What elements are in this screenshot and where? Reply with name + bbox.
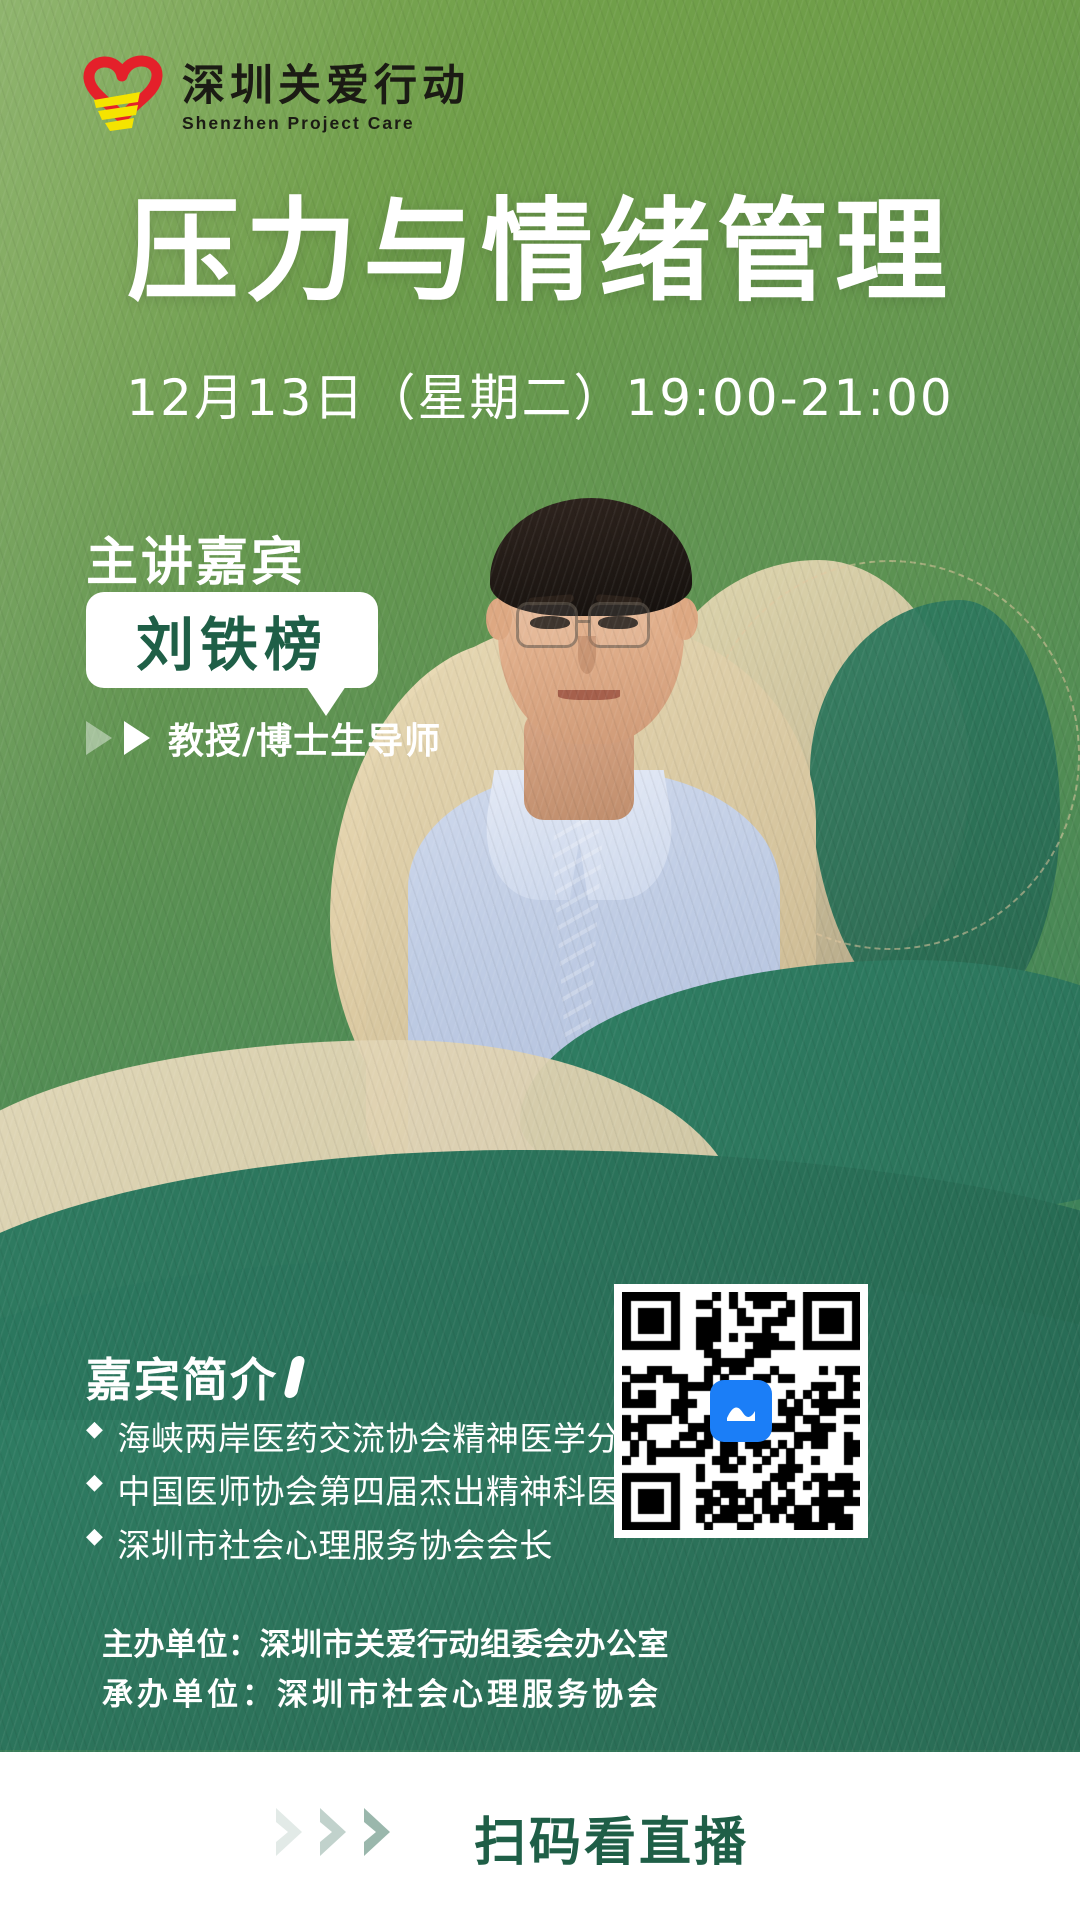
diamond-bullet-icon: ◆ — [86, 1465, 103, 1501]
brand-name-cn: 深圳关爱行动 — [182, 65, 470, 109]
portrait-glasses-right — [588, 602, 650, 648]
diamond-bullet-icon: ◆ — [86, 1519, 103, 1555]
event-datetime: 12月13日（星期二）19:00-21:00 — [0, 358, 1080, 430]
organizer-co-host: 承办单位：深圳市社会心理服务协会 — [102, 1670, 669, 1720]
bio-heading-row: 嘉宾简介 — [86, 1344, 301, 1410]
play-triangle-icon-secondary — [86, 721, 112, 755]
bio-heading: 嘉宾简介 — [86, 1344, 278, 1410]
portrait-hair — [490, 498, 692, 616]
play-triangle-icon — [124, 721, 150, 755]
speaker-name: 刘铁榜 — [136, 598, 328, 682]
speaker-role: 教授/博士生导师 — [168, 712, 441, 764]
portrait-nose — [578, 636, 596, 674]
portrait-glasses-bridge — [578, 620, 590, 623]
chevron-right-icon — [316, 1806, 354, 1858]
speaker-section-label: 主讲嘉宾 — [86, 520, 306, 595]
chevron-right-icon — [360, 1806, 398, 1858]
portrait-ear-right — [672, 598, 698, 640]
chevron-group — [272, 1806, 398, 1858]
live-stream-qr-code[interactable] — [622, 1292, 860, 1530]
heart-lightbulb-icon — [78, 46, 166, 138]
brand-name-en: Shenzhen Project Care — [182, 113, 470, 134]
bio-item-text: 深圳市社会心理服务协会会长 — [117, 1519, 553, 1572]
footer-cta: 扫码看直播 — [474, 1800, 749, 1875]
diamond-bullet-icon: ◆ — [86, 1412, 103, 1448]
qr-code-card[interactable] — [614, 1284, 868, 1538]
organizer-block: 主办单位：深圳市关爱行动组委会办公室 承办单位：深圳市社会心理服务协会 — [102, 1620, 669, 1720]
poster-root: 深圳关爱行动 Shenzhen Project Care 压力与情绪管理 12月… — [0, 0, 1080, 1920]
speaker-name-badge: 刘铁榜 — [86, 592, 378, 688]
brand-logo-text: 深圳关爱行动 Shenzhen Project Care — [182, 65, 470, 138]
portrait-mouth — [558, 690, 620, 700]
chevron-right-icon — [272, 1806, 310, 1858]
video-channel-icon — [710, 1380, 772, 1442]
speaker-role-row: 教授/博士生导师 — [86, 712, 441, 764]
portrait-glasses-left — [516, 602, 578, 648]
organizer-host: 主办单位：深圳市关爱行动组委会办公室 — [102, 1620, 669, 1670]
brand-logo: 深圳关爱行动 Shenzhen Project Care — [78, 46, 470, 138]
page-title: 压力与情绪管理 — [0, 196, 1080, 308]
